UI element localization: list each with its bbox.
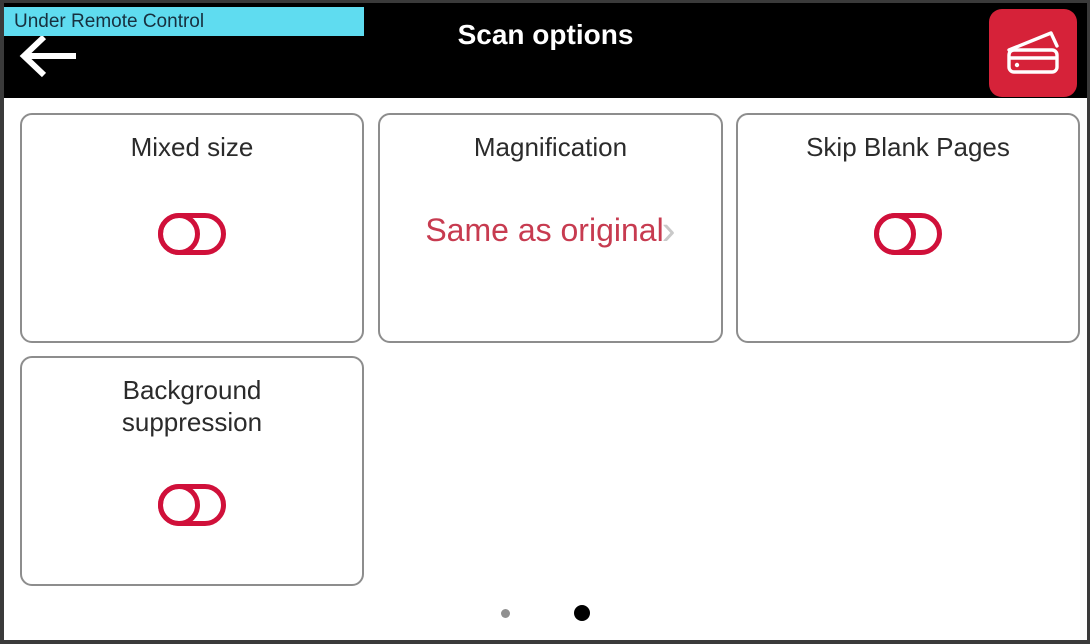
pagination-dots bbox=[4, 604, 1087, 622]
magnification-value-row[interactable]: Same as original › bbox=[380, 210, 721, 250]
card-title-mixed-size: Mixed size bbox=[30, 131, 354, 163]
toggle-knob-icon bbox=[158, 213, 200, 255]
back-button[interactable] bbox=[18, 33, 80, 79]
toggle-skip-blank-pages[interactable] bbox=[874, 213, 942, 255]
card-title-magnification: Magnification bbox=[388, 131, 713, 163]
card-title-skip-blank-pages: Skip Blank Pages bbox=[746, 131, 1070, 163]
toggle-wrap-mixed-size bbox=[22, 213, 362, 255]
card-title-line-2: suppression bbox=[30, 406, 354, 438]
card-title-background-suppression: Background suppression bbox=[30, 374, 354, 438]
scanner-status-badge[interactable] bbox=[989, 9, 1077, 97]
page-dot-1[interactable] bbox=[501, 609, 510, 618]
scan-options-grid: Mixed size Magnification Same as origina… bbox=[4, 98, 1087, 644]
remote-control-banner: Under Remote Control bbox=[4, 7, 364, 36]
chevron-right-icon: › bbox=[662, 210, 676, 250]
card-mixed-size[interactable]: Mixed size bbox=[20, 113, 364, 343]
toggle-knob-icon bbox=[158, 484, 200, 526]
card-skip-blank-pages[interactable]: Skip Blank Pages bbox=[736, 113, 1080, 343]
card-magnification[interactable]: Magnification Same as original › bbox=[378, 113, 723, 343]
magnification-value: Same as original bbox=[425, 212, 663, 249]
device-screen: Scan options Under Remote Control bbox=[0, 0, 1090, 644]
toggle-knob-icon bbox=[874, 213, 916, 255]
scanner-icon bbox=[1002, 27, 1064, 79]
toggle-wrap-skip-blank-pages bbox=[738, 213, 1078, 255]
app-header: Scan options Under Remote Control bbox=[4, 3, 1087, 98]
page-dot-2[interactable] bbox=[574, 605, 590, 621]
toggle-wrap-background-suppression bbox=[22, 484, 362, 526]
toggle-background-suppression[interactable] bbox=[158, 484, 226, 526]
toggle-mixed-size[interactable] bbox=[158, 213, 226, 255]
arrow-left-icon bbox=[18, 33, 80, 79]
card-title-line-1: Background bbox=[30, 374, 354, 406]
card-background-suppression[interactable]: Background suppression bbox=[20, 356, 364, 586]
